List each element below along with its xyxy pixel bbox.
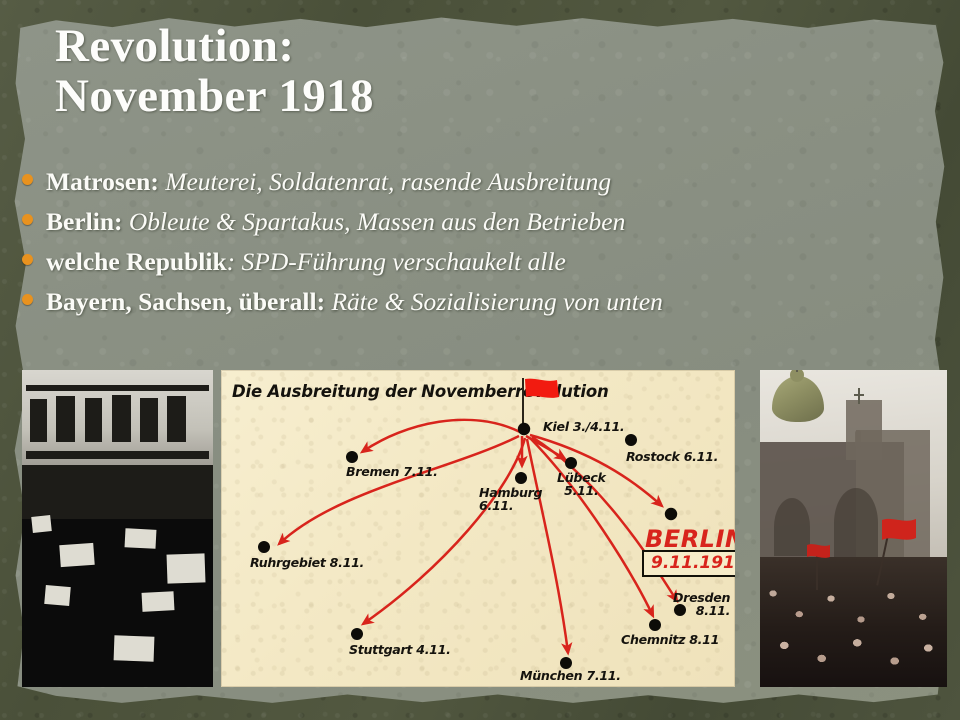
title-line-1: Revolution: (55, 22, 755, 72)
red-flag-icon (806, 542, 832, 562)
bullet-desc: SPD-Führung verschaukelt alle (242, 247, 566, 276)
placard (31, 515, 52, 533)
cathedral-arch (834, 488, 878, 558)
city-label-chemnitz: Chemnitz 8.11 (621, 633, 719, 646)
list-item: Berlin: Obleute & Spartakus, Massen aus … (22, 206, 950, 237)
bullet-lead: welche Republik (46, 247, 227, 276)
city-label-luebeck: Lübeck5.11. (557, 471, 606, 498)
bullet-text: welche Republik: SPD-Führung verschaukel… (46, 246, 566, 277)
slide: Revolution: November 1918 Matrosen: Meut… (0, 0, 960, 720)
cathedral-statue (855, 430, 861, 448)
cross-icon (796, 370, 798, 372)
red-flag-icon (880, 516, 918, 546)
map-berlin-label: BERLIN (645, 525, 735, 553)
bullet-text: Berlin: Obleute & Spartakus, Massen aus … (46, 206, 625, 237)
list-item: Bayern, Sachsen, überall: Räte & Soziali… (22, 286, 950, 317)
list-item: Matrosen: Meuterei, Soldatenrat, rasende… (22, 166, 950, 197)
city-label-ruhrgebiet: Ruhrgebiet 8.11. (250, 556, 364, 569)
bullet-desc: Meuterei, Soldatenrat, rasende Ausbreitu… (165, 167, 611, 196)
title-line-2: November 1918 (55, 72, 755, 122)
city-label-hamburg-date: 6.11. (479, 498, 513, 513)
map-berlin-date-box: 9.11.1918 (642, 550, 735, 577)
placard (113, 636, 154, 663)
bullet-dot-icon (22, 254, 33, 265)
bullet-list: Matrosen: Meuterei, Soldatenrat, rasende… (22, 166, 950, 326)
bullet-dot-icon (22, 214, 33, 225)
media-strip: Die Ausbreitung der Novemberrevolution (22, 370, 947, 687)
bullet-colon: : (227, 247, 236, 276)
bullet-desc: Räte & Sozialisierung von unten (331, 287, 662, 316)
november-revolution-map: Die Ausbreitung der Novemberrevolution (221, 370, 735, 687)
placard (59, 543, 95, 568)
cathedral-arch (774, 498, 810, 556)
placard (125, 528, 157, 549)
placard (167, 553, 206, 583)
bullet-lead: Bayern, Sachsen, überall: (46, 287, 325, 316)
list-item: welche Republik: SPD-Führung verschaukel… (22, 246, 950, 277)
city-label-bremen: Bremen 7.11. (346, 465, 438, 478)
map-berlin-date: 9.11.1918 (651, 553, 735, 573)
bullet-dot-icon (22, 174, 33, 185)
city-label-muenchen: München 7.11. (520, 669, 621, 682)
placard (44, 585, 70, 606)
city-label-dresden-date: 8.11. (696, 603, 730, 618)
bullet-lead: Matrosen: (46, 167, 159, 196)
red-flag-icon (524, 377, 564, 403)
placard (142, 591, 175, 612)
bullet-lead: Berlin: (46, 207, 123, 236)
city-label-dresden: Dresden8.11. (673, 591, 730, 618)
bullet-text: Bayern, Sachsen, überall: Räte & Soziali… (46, 286, 663, 317)
bullet-desc: Obleute & Spartakus, Massen aus den Betr… (129, 207, 625, 236)
cross-icon (858, 388, 860, 404)
photo-crowd (760, 557, 947, 687)
city-label-kiel: Kiel 3./4.11. (543, 420, 624, 433)
city-label-stuttgart: Stuttgart 4.11. (349, 643, 451, 656)
bullet-text: Matrosen: Meuterei, Soldatenrat, rasende… (46, 166, 611, 197)
demonstration-crowd-photo (22, 370, 213, 687)
page-title: Revolution: November 1918 (55, 22, 755, 122)
cathedral-tower (846, 400, 882, 460)
city-label-hamburg: Hamburg6.11. (479, 486, 542, 513)
city-label-rostock: Rostock 6.11. (626, 450, 718, 463)
berlin-cathedral-photo (760, 370, 947, 687)
cross-icon (854, 394, 864, 396)
city-label-luebeck-date: 5.11. (564, 483, 598, 498)
bullet-dot-icon (22, 294, 33, 305)
